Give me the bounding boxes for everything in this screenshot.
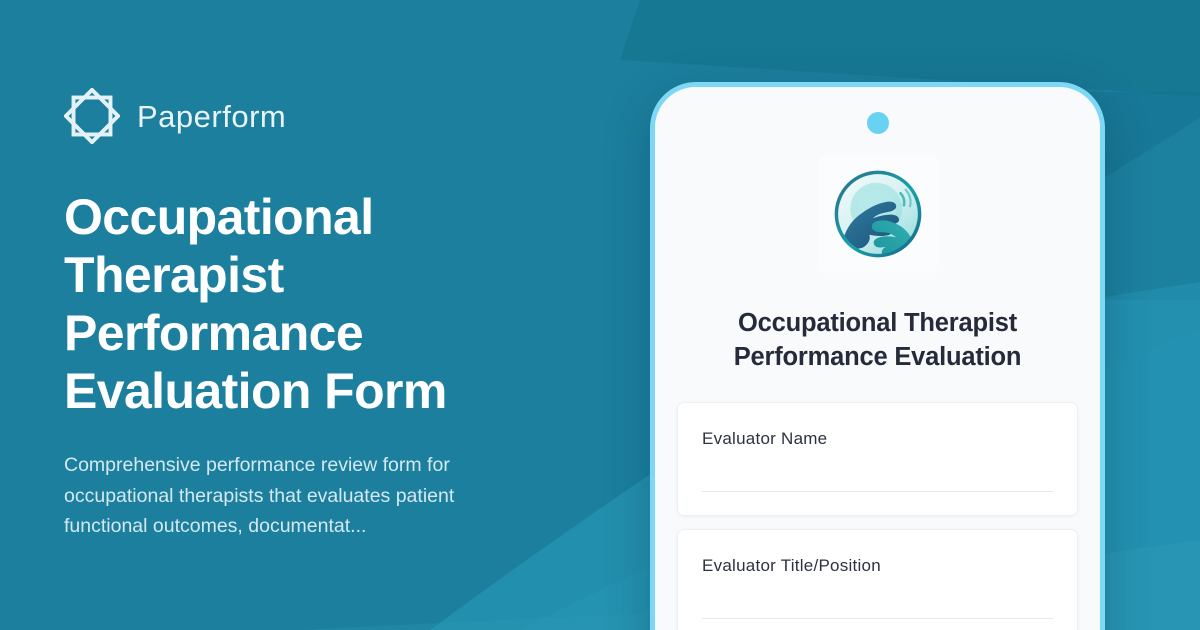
paperform-star-logo-icon bbox=[64, 88, 120, 144]
page-title: Occupational Therapist Performance Evalu… bbox=[64, 188, 504, 420]
brand-name: Paperform bbox=[137, 101, 286, 132]
page-description: Comprehensive performance review form fo… bbox=[64, 450, 534, 541]
field-input-underline[interactable] bbox=[702, 618, 1053, 619]
form-title: Occupational Therapist Performance Evalu… bbox=[685, 306, 1070, 374]
field-label: Evaluator Title/Position bbox=[702, 556, 1053, 576]
form-field-evaluator-name[interactable]: Evaluator Name bbox=[677, 402, 1078, 516]
form-fields: Evaluator Name Evaluator Title/Position bbox=[677, 402, 1078, 630]
field-label: Evaluator Name bbox=[702, 429, 1053, 449]
form-field-evaluator-title[interactable]: Evaluator Title/Position bbox=[677, 529, 1078, 630]
caring-hands-circle-logo-icon bbox=[819, 155, 937, 273]
phone-screen: Occupational Therapist Performance Evalu… bbox=[655, 87, 1100, 630]
field-input-underline[interactable] bbox=[702, 491, 1053, 492]
promo-card: Paperform Occupational Therapist Perform… bbox=[0, 0, 1200, 630]
brand-lockup: Paperform bbox=[64, 88, 604, 144]
camera-dot-icon bbox=[867, 112, 889, 134]
hero-content: Paperform Occupational Therapist Perform… bbox=[64, 0, 604, 630]
phone-mockup: Occupational Therapist Performance Evalu… bbox=[650, 82, 1105, 630]
